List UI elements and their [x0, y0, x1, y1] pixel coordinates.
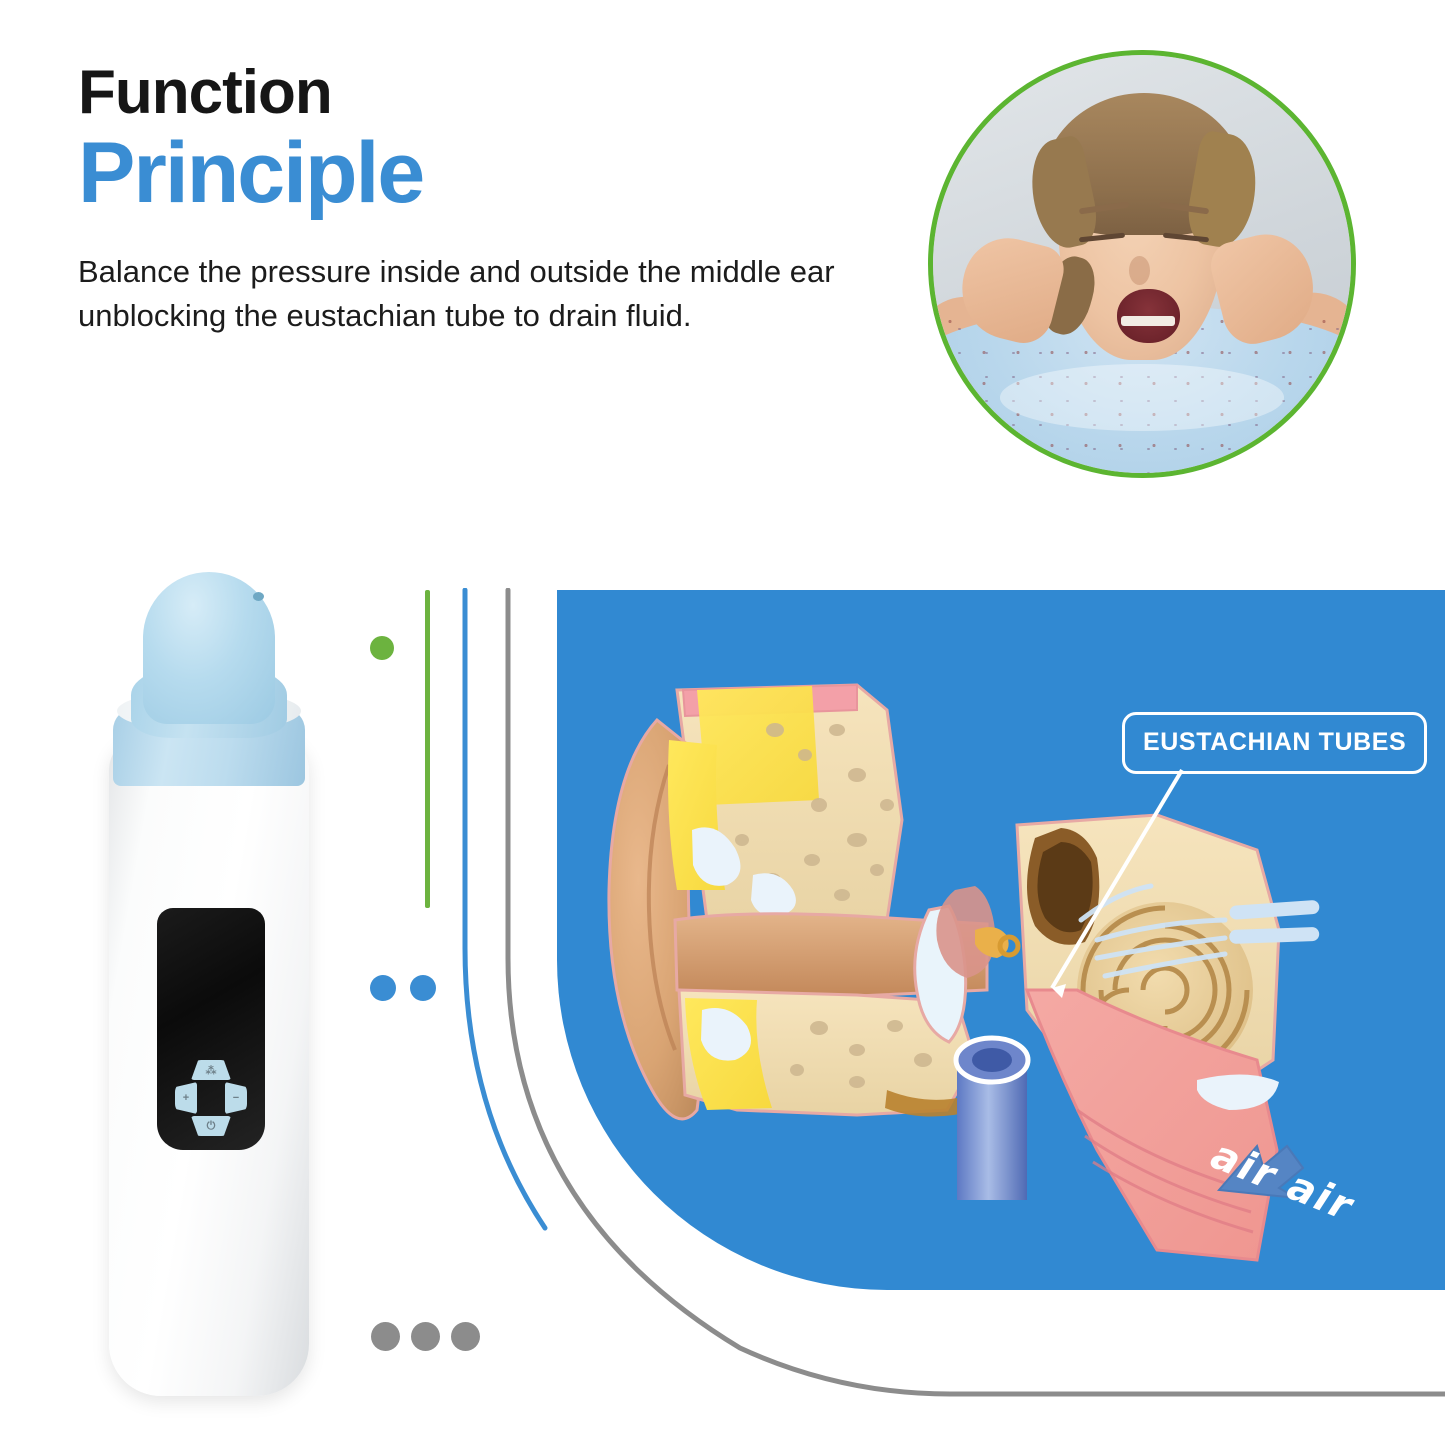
decor-dot-gray-3 [451, 1322, 480, 1351]
decor-dot-blue-1 [370, 975, 396, 1001]
page-title-secondary: Principle [78, 130, 878, 216]
decrease-button[interactable]: − [225, 1082, 247, 1114]
decor-dot-blue-2 [410, 975, 436, 1001]
device-button-pad: ⁂ + − ⏻ [175, 1060, 247, 1136]
increase-button[interactable]: + [175, 1082, 197, 1114]
decor-line-green [425, 590, 430, 908]
decor-dot-green-1 [370, 636, 394, 660]
mode-button[interactable]: ⁂ [191, 1060, 231, 1080]
child-photo [933, 55, 1351, 473]
photo-dress-frill [1000, 364, 1284, 431]
device-tip-hole [253, 592, 264, 601]
page-subtitle: Balance the pressure inside and outside … [78, 250, 858, 338]
power-button[interactable]: ⏻ [191, 1116, 231, 1136]
device-screen[interactable]: ⁂ + − ⏻ [157, 908, 265, 1150]
eustachian-tubes-label: EUSTACHIAN TUBES [1122, 712, 1427, 774]
device-silicone-tip [143, 572, 275, 724]
child-photo-circle [928, 50, 1356, 478]
nasal-aspirator-device: ⁂ + − ⏻ [95, 560, 325, 1400]
decor-dot-gray-2 [411, 1322, 440, 1351]
eustachian-leader-line [1040, 766, 1190, 1006]
header-block: Function Principle Balance the pressure … [78, 62, 878, 338]
decor-dot-gray-1 [371, 1322, 400, 1351]
photo-teeth [1121, 316, 1175, 326]
page-title-primary: Function [78, 62, 878, 124]
